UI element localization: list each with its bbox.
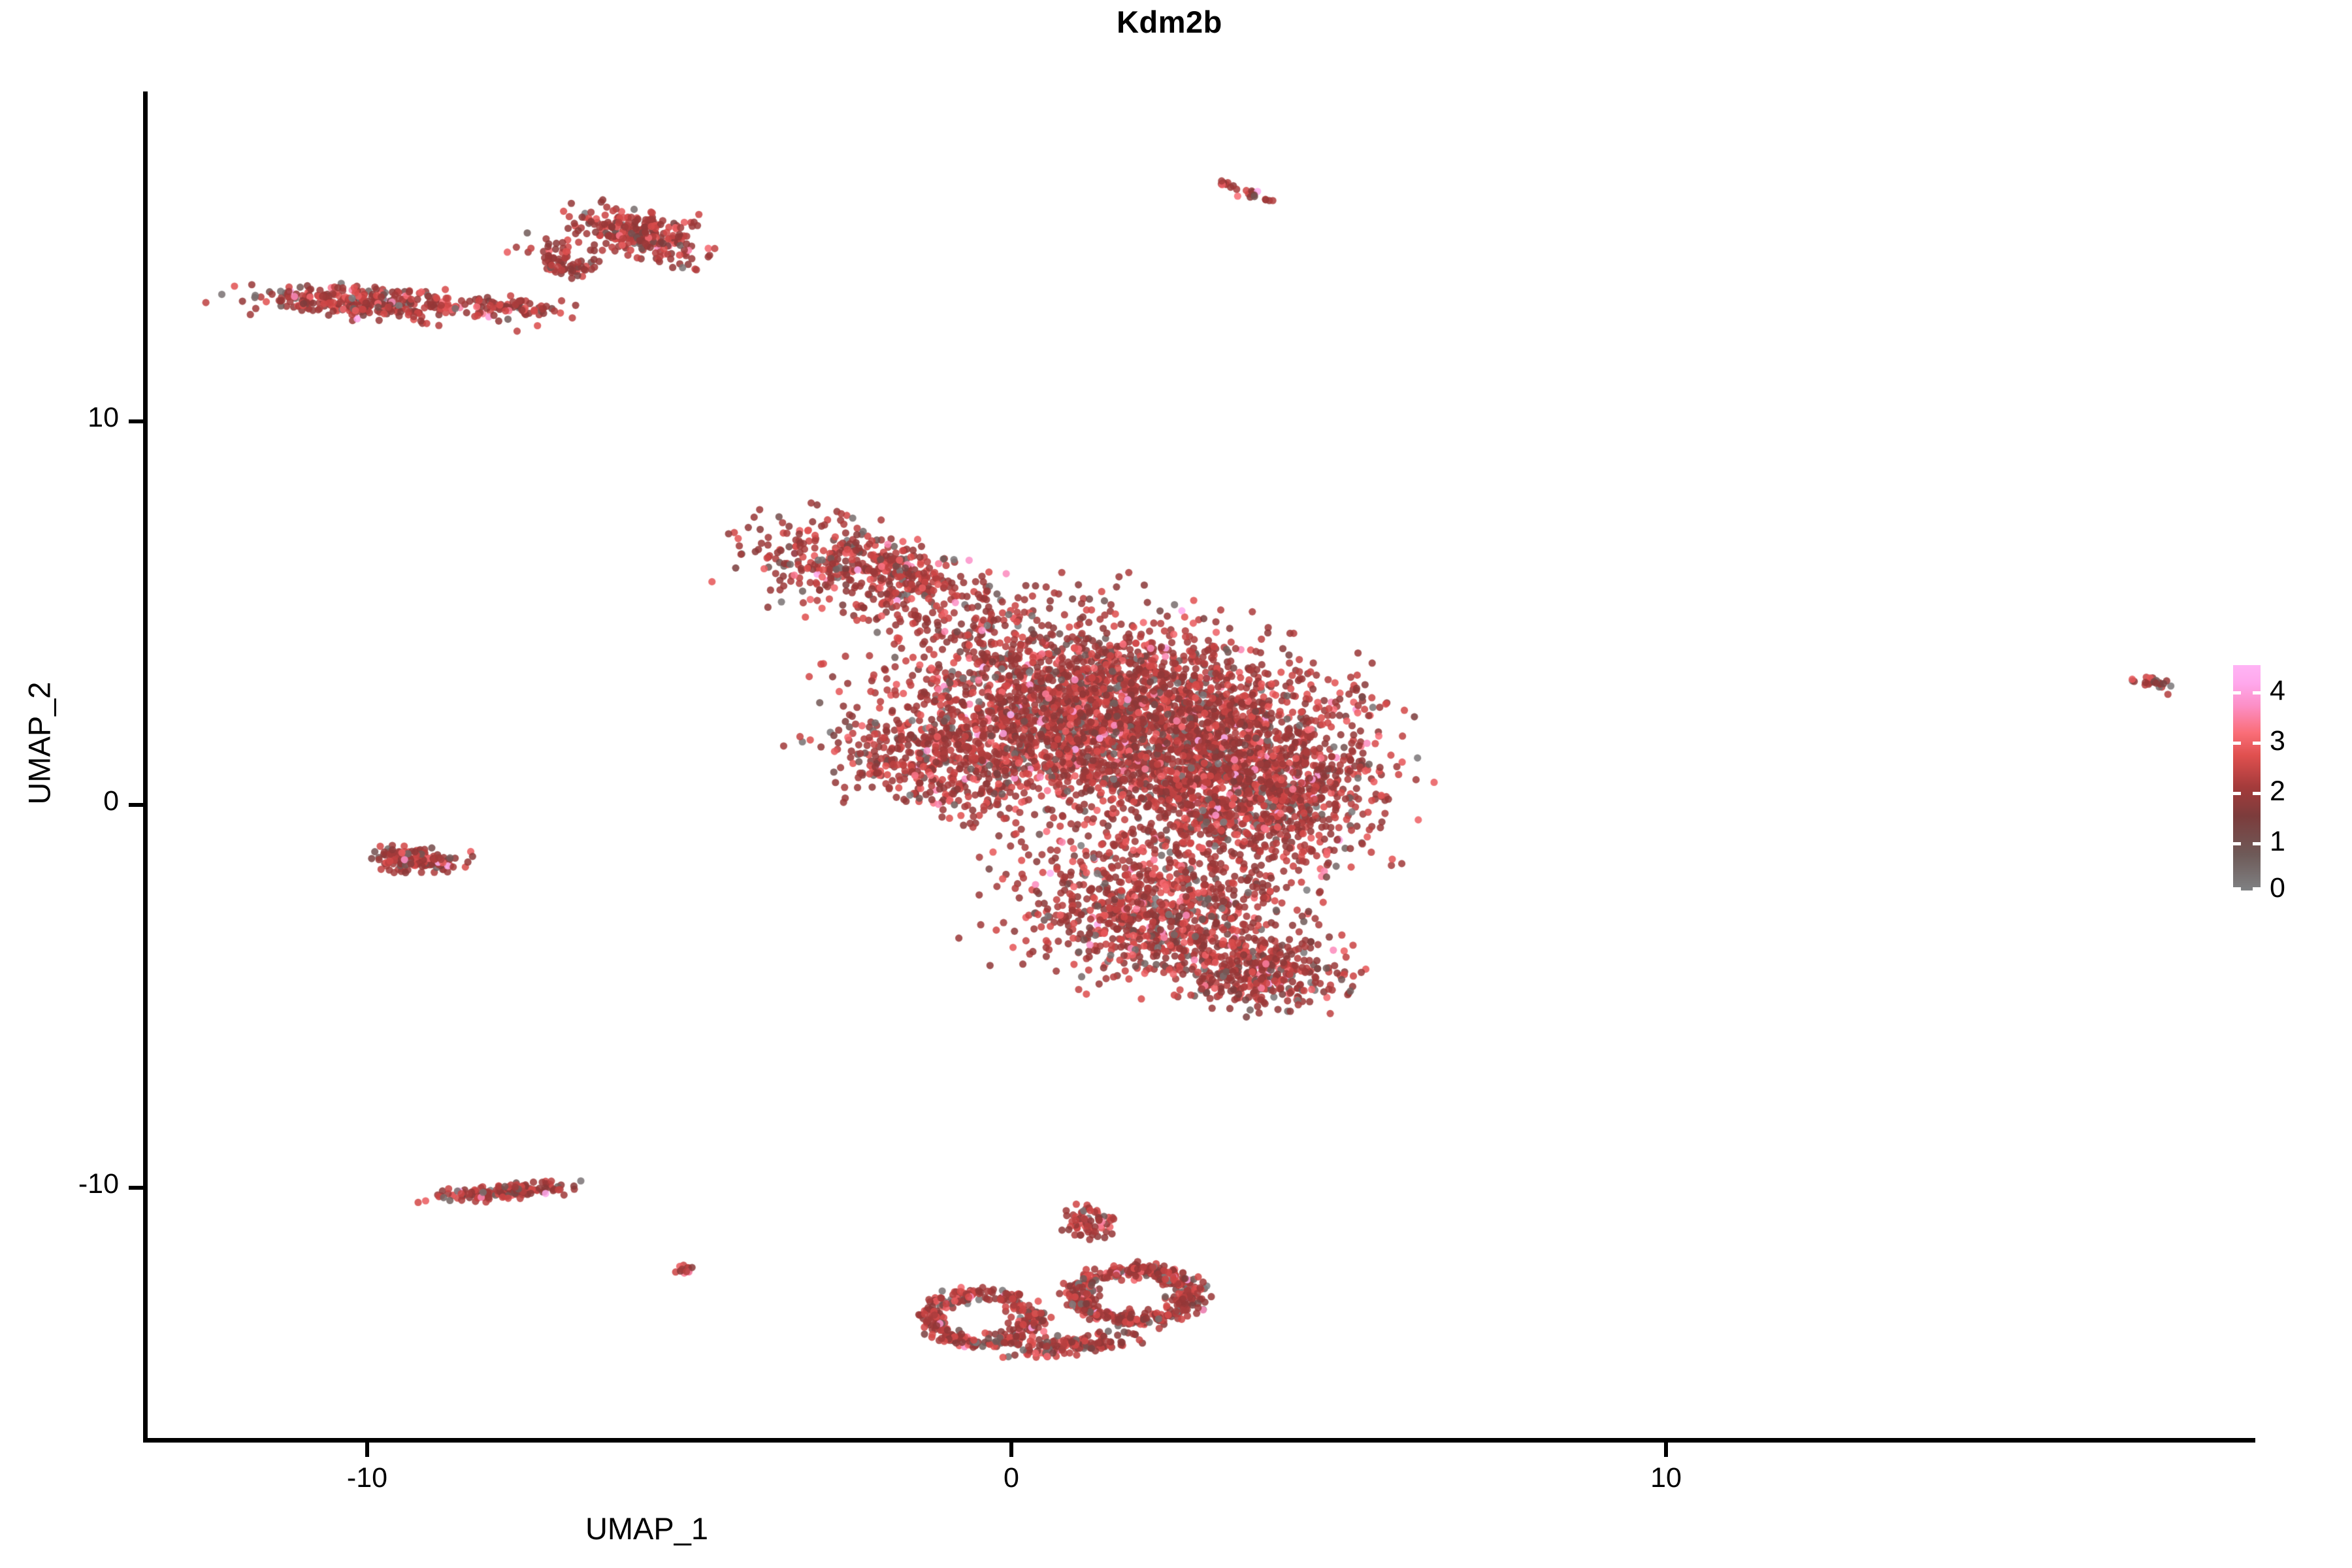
x-axis-title-text: UMAP_1 bbox=[585, 1511, 708, 1546]
x-tick-label-0: 0 bbox=[946, 1462, 1077, 1494]
colorbar-tick-2-left bbox=[2233, 792, 2241, 795]
colorbar-tick-2-right bbox=[2253, 792, 2261, 795]
x-axis-title: UMAP_1 bbox=[0, 1511, 2352, 1546]
y-axis-title-text: UMAP_2 bbox=[22, 681, 57, 804]
y-tick-label-neg10: -10 bbox=[21, 1168, 119, 1200]
colorbar-tick-4-left bbox=[2233, 691, 2241, 694]
x-tick-label-neg10: -10 bbox=[302, 1462, 433, 1494]
x-tick-mark-neg10 bbox=[365, 1443, 369, 1457]
x-tick-label-10: 10 bbox=[1601, 1462, 1731, 1494]
colorbar-label-4: 4 bbox=[2270, 677, 2285, 705]
y-tick-label-10: 10 bbox=[21, 402, 119, 434]
y-axis-line bbox=[143, 91, 148, 1443]
plot-panel bbox=[145, 91, 2255, 1441]
colorbar-label-3: 3 bbox=[2270, 727, 2285, 755]
y-tick-mark-neg10 bbox=[129, 1186, 143, 1190]
colorbar-tick-0-right bbox=[2253, 887, 2261, 890]
figure-root: Kdm2b 10 0 -10 -10 0 10 UMAP_1 UMAP_2 4 … bbox=[0, 0, 2352, 1568]
y-tick-mark-10 bbox=[129, 419, 143, 423]
colorbar-tick-3-right bbox=[2253, 742, 2261, 745]
plot-title-text: Kdm2b bbox=[1117, 5, 1222, 39]
colorbar-label-0: 0 bbox=[2270, 874, 2285, 902]
colorbar-tick-0-left bbox=[2233, 887, 2241, 890]
colorbar-tick-4-right bbox=[2253, 691, 2261, 694]
x-tick-mark-0 bbox=[1009, 1443, 1013, 1457]
colorbar-tick-1-right bbox=[2253, 842, 2261, 845]
colorbar-label-1: 1 bbox=[2270, 828, 2285, 856]
colorbar-label-2: 2 bbox=[2270, 777, 2285, 806]
y-tick-mark-0 bbox=[129, 803, 143, 807]
y-axis-title: UMAP_2 bbox=[22, 580, 57, 907]
page-title: Kdm2b bbox=[0, 4, 2352, 40]
colorbar-gradient bbox=[2233, 665, 2261, 890]
colorbar-tick-1-left bbox=[2233, 842, 2241, 845]
x-axis-line bbox=[143, 1438, 2255, 1443]
scatter-canvas bbox=[145, 91, 2255, 1441]
colorbar-tick-3-left bbox=[2233, 742, 2241, 745]
x-tick-mark-10 bbox=[1664, 1443, 1668, 1457]
